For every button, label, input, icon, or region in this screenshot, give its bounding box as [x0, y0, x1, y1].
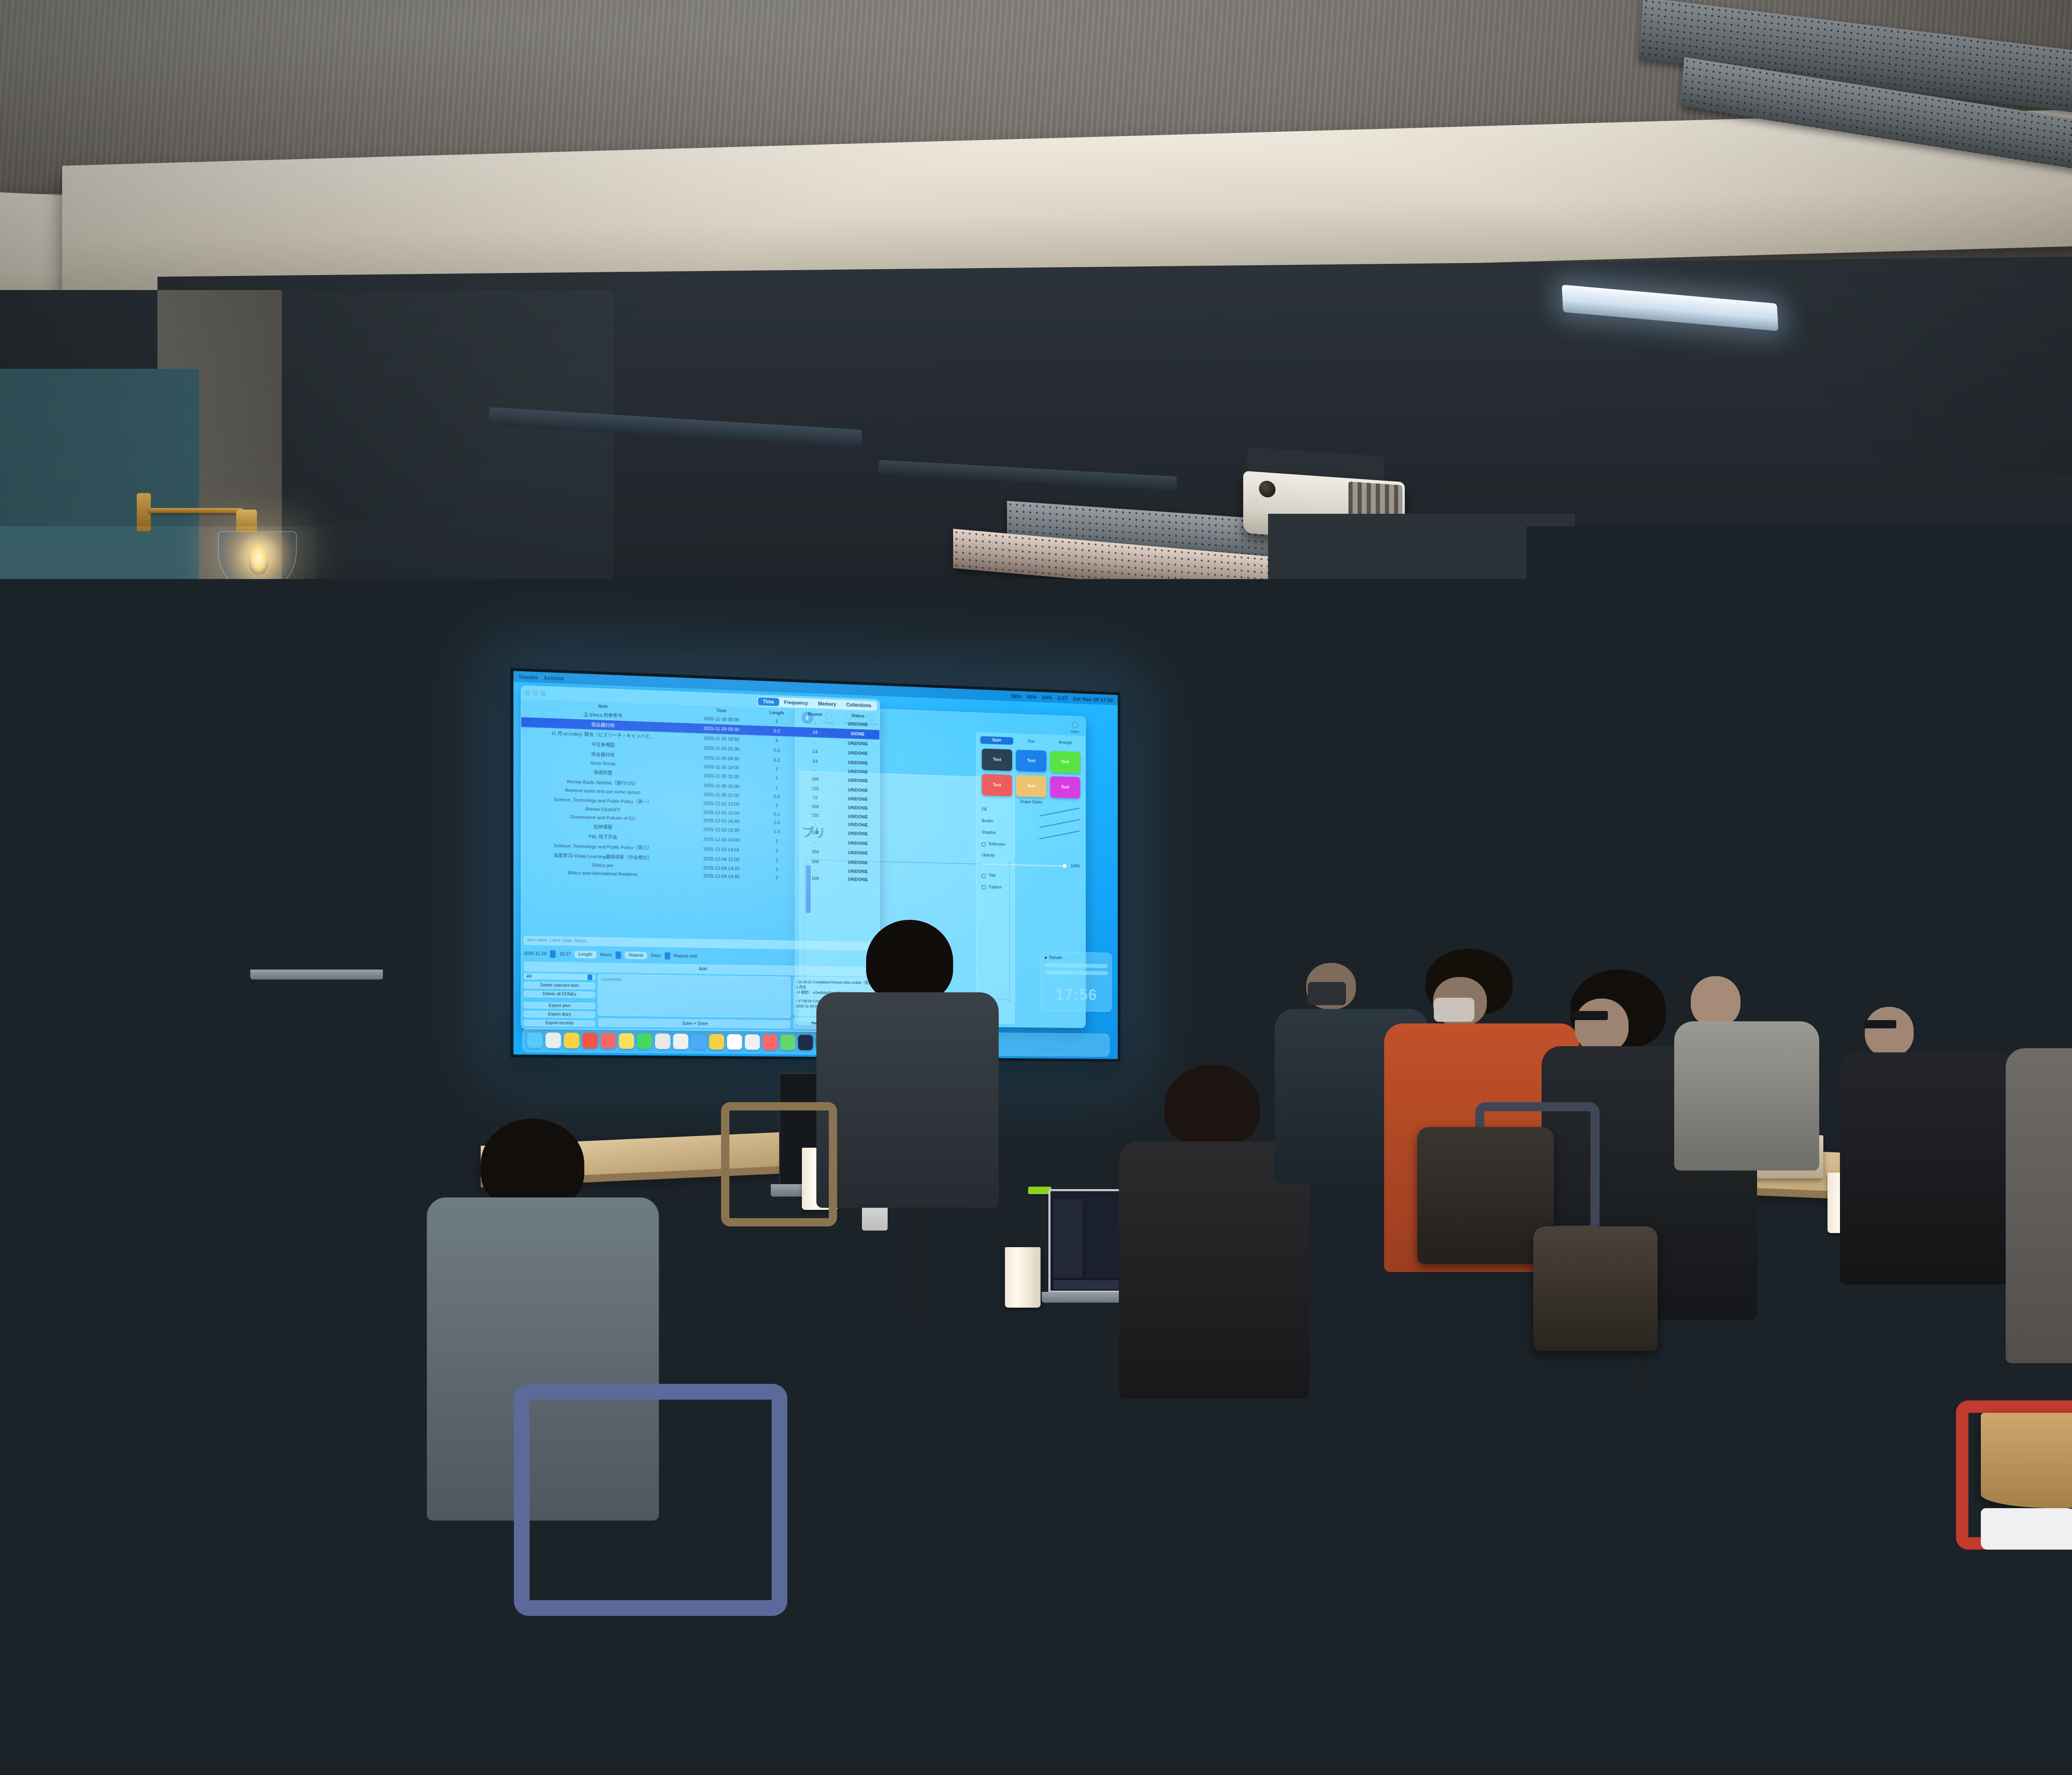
cell-repeat: -	[794, 868, 835, 873]
menubar-stat-1: 98%	[1011, 693, 1021, 699]
task-table[interactable]: Item Time Length Repeat Status 立 Ethics …	[521, 700, 879, 938]
meeting-room-photo: 無料でご利用いただけます FREE WI-FI SSID Bizreach-Ca…	[0, 0, 2072, 1775]
tomato-timer-widget[interactable]: Tomato 17:56	[1041, 952, 1112, 1012]
cell-repeat: -	[794, 720, 835, 726]
repeat-unit: Days	[651, 953, 661, 958]
face-mask	[1434, 998, 1474, 1022]
style-swatch[interactable]: Text	[1016, 750, 1046, 772]
menubar-actions[interactable]: Actions	[544, 675, 564, 682]
repeat-until-label: Repeat until	[674, 953, 697, 959]
cell-repeat: -	[794, 739, 835, 745]
notes-icon[interactable]	[619, 1033, 634, 1049]
notion-icon[interactable]	[673, 1034, 688, 1050]
cell-length: 1	[759, 775, 795, 781]
cell-status: UNDONE	[835, 787, 879, 793]
log-line: - 15:18:21 Completed Renew Ultra mobile（…	[796, 979, 874, 991]
tomato-widget-title: Tomato	[1045, 955, 1108, 961]
tab-collections[interactable]: Collections	[841, 701, 876, 710]
music-icon[interactable]	[762, 1035, 777, 1050]
reflection-label: Reflection	[989, 842, 1080, 849]
style-swatch[interactable]: Text	[982, 774, 1012, 796]
delete-all-dones-button[interactable]: Delete all DONEs	[524, 991, 595, 998]
cell-time: 2025-11-30 14:00	[683, 764, 759, 771]
head	[1691, 976, 1740, 1027]
col-status: Status	[835, 713, 879, 719]
reflection-checkbox[interactable]	[982, 842, 985, 846]
glasses-icon	[1863, 1020, 1896, 1028]
cell-time: 2025-12-01 15:00	[683, 809, 759, 816]
filter-select[interactable]: All	[524, 973, 595, 980]
cell-status: UNDONE	[835, 860, 879, 866]
cell-length: 0.5	[759, 794, 795, 800]
date-stepper[interactable]	[550, 950, 556, 958]
repeat-input[interactable]: Repeat	[625, 952, 647, 960]
tab-arrange[interactable]: Arrange	[1049, 739, 1082, 747]
shadow-label: Shadow	[982, 830, 995, 835]
cell-repeat: 168	[794, 875, 835, 881]
menubar-battery-time: 2:57	[1058, 695, 1068, 701]
tab-style[interactable]: Style	[980, 736, 1014, 745]
cell-repeat: 168	[794, 829, 835, 835]
cell-length: 1	[759, 766, 795, 772]
laptop-lid	[256, 895, 376, 970]
border-label: Border	[982, 819, 993, 823]
cell-length: 2	[759, 803, 795, 808]
sneaker	[1558, 1409, 1658, 1448]
sneaker	[1981, 1508, 2072, 1550]
cell-time: 2025-12-01 16:40	[683, 817, 759, 825]
cell-length: 0.2	[759, 757, 795, 763]
photos-icon[interactable]	[564, 1033, 579, 1048]
cell-length: 0.5	[759, 747, 795, 754]
cell-repeat: 720	[794, 786, 835, 792]
tab-text[interactable]: Text	[1015, 738, 1048, 746]
cell-time: 2025-11-18 08:00	[683, 716, 759, 723]
cell-length: 0.1	[759, 812, 795, 817]
caption-label: Caption	[989, 885, 1080, 891]
cell-length: 1	[759, 785, 795, 791]
comments-pane: Comments Save + Done	[598, 974, 791, 1029]
cell-status: UNDONE	[835, 721, 879, 728]
hair	[481, 1119, 584, 1210]
cell-status: UNDONE	[835, 822, 879, 828]
torso	[2006, 1048, 2072, 1363]
projection-screen: Tomato Actions 98% 90% 64% 2:57 Sat Nov …	[511, 668, 1120, 1062]
torso	[1840, 1052, 2018, 1284]
fill-label: Fill	[982, 808, 987, 812]
chrome-icon[interactable]	[655, 1033, 670, 1049]
date-field[interactable]: 2025-11-29	[524, 951, 547, 957]
actions-pane: All Delete selected item Delete all DONE…	[524, 973, 595, 1027]
cell-repeat: 72	[794, 795, 835, 801]
wood-wainscot-left	[0, 1007, 166, 1305]
tab-time[interactable]: Time	[758, 697, 779, 706]
style-swatch[interactable]: Text	[1016, 775, 1046, 798]
chevron-down-icon	[588, 974, 593, 980]
cell-time: 2025-12-03 14:55	[683, 846, 759, 853]
inspector-tabs: Style Text Arrange	[980, 736, 1082, 747]
export-plan-button[interactable]: Export plan	[524, 1002, 595, 1009]
tomato-timer-value: 17:56	[1041, 986, 1111, 1004]
cell-status: UNDONE	[835, 750, 879, 756]
cell-status: UNDONE	[835, 877, 879, 883]
cell-length: 0.2	[759, 728, 795, 734]
torso	[1674, 1021, 1819, 1170]
glasses-icon	[1572, 1011, 1608, 1020]
cell-status: UNDONE	[835, 814, 879, 820]
opacity-slider[interactable]	[982, 863, 1067, 867]
inspector-row-reflection[interactable]: Reflection	[980, 838, 1082, 852]
paper-cup	[1005, 1247, 1041, 1308]
hair	[866, 920, 953, 1003]
cell-time: 2025-11-29 18:50	[683, 735, 759, 742]
cell-status: UNDONE	[835, 840, 879, 846]
cell-status: UNDONE	[835, 760, 879, 766]
health-icon[interactable]	[600, 1033, 616, 1049]
head	[1865, 1007, 1914, 1057]
repeat-stepper[interactable]	[665, 952, 670, 960]
cell-length: 1	[759, 718, 795, 724]
cell-time: 2025-11-29 09:30	[683, 725, 759, 733]
fill-preview	[1039, 808, 1080, 816]
export-records-button[interactable]: Export records	[524, 1020, 595, 1027]
cell-repeat: 24	[794, 758, 835, 764]
mail-icon[interactable]	[691, 1034, 707, 1050]
cell-status: UNDONE	[835, 805, 879, 811]
cell-length: 2	[759, 848, 795, 854]
cell-time: 2025-12-04 14:20	[683, 865, 759, 871]
time-field[interactable]: 15:17	[559, 952, 571, 957]
smartphone	[742, 1307, 800, 1330]
cell-status: UNDONE	[835, 850, 879, 856]
projected-desktop: Tomato Actions 98% 90% 64% 2:57 Sat Nov …	[513, 671, 1118, 1059]
cell-time: 2025-11-30 16:00	[683, 782, 759, 789]
chair-frame-green	[1537, 1516, 1836, 1740]
length-stepper[interactable]	[615, 951, 621, 959]
comments-textarea[interactable]: Comments	[598, 974, 791, 1018]
hair-bun	[1164, 1065, 1260, 1148]
share-icon	[1072, 722, 1078, 728]
cell-length: 1.5	[759, 829, 795, 834]
chair-frame-wood	[721, 1102, 837, 1226]
menubar-stat-3: 64%	[1042, 694, 1052, 700]
photos2-icon[interactable]	[709, 1034, 724, 1050]
cell-length: 2	[759, 858, 795, 863]
reminders-icon[interactable]	[745, 1034, 760, 1050]
tomato-icon[interactable]	[582, 1033, 598, 1049]
chair-frame-red	[800, 1318, 1048, 1500]
window-tabs: Time Frequency Memory Collections	[757, 696, 877, 711]
cell-time: 2025-12-04 14:40	[683, 873, 759, 880]
cell-repeat: -	[794, 767, 835, 774]
opacity-value: 100%	[1070, 864, 1080, 868]
cell-status: DONE	[835, 731, 879, 737]
filter-value: All	[527, 974, 532, 979]
cell-time: 2025-11-30 09:30	[683, 754, 759, 762]
export-diary-button[interactable]: Export diary	[524, 1011, 595, 1018]
inspector-row-caption[interactable]: Caption	[980, 881, 1082, 895]
cell-time: 2025-11-30 15:30	[683, 773, 759, 780]
cell-status: UNDONE	[835, 769, 879, 775]
projector-lens-icon	[1259, 480, 1276, 498]
cell-status: UNDONE	[835, 777, 879, 784]
toolbar-share[interactable]: Share	[1070, 722, 1080, 734]
sconce-arm	[148, 508, 244, 513]
cell-time: 2025-12-01 13:00	[683, 800, 759, 808]
zoom-icon[interactable]	[541, 691, 545, 695]
col-time: Time	[683, 707, 759, 715]
chair-frame-blue	[514, 1384, 787, 1616]
save-done-button[interactable]: Save + Done	[598, 1018, 791, 1028]
cell-time: 2025-12-02 19:30	[683, 827, 759, 834]
keynote-icon[interactable]	[798, 1035, 813, 1050]
torso	[816, 992, 999, 1208]
title-label: Title	[989, 873, 1080, 880]
maps-icon[interactable]	[780, 1035, 795, 1050]
border-preview	[1039, 819, 1080, 828]
calendar-icon[interactable]	[727, 1034, 742, 1050]
cell-repeat: 24	[794, 729, 835, 735]
cell-repeat: 168	[794, 776, 835, 782]
cell-repeat: -	[794, 821, 835, 827]
tab-memory[interactable]: Memory	[813, 699, 841, 709]
tab-frequency[interactable]: Frequency	[779, 698, 813, 708]
toolbar-share-label: Share	[1070, 730, 1080, 734]
cell-length: 2	[759, 875, 795, 880]
close-icon[interactable]	[525, 690, 530, 695]
cell-repeat: 168	[794, 804, 835, 810]
cell-status: UNDONE	[835, 868, 879, 874]
sneaker	[1484, 1363, 1579, 1400]
menubar-app-name[interactable]: Tomato	[518, 673, 538, 680]
tomato-widget-label: Tomato	[1049, 955, 1063, 960]
style-swatch[interactable]: Text	[982, 749, 1012, 771]
cell-status: UNDONE	[835, 740, 879, 747]
cell-time: 2025-12-03 14:00	[683, 836, 759, 843]
face-mask	[1308, 982, 1346, 1005]
bullet-icon	[1045, 957, 1047, 959]
title-checkbox[interactable]	[982, 873, 985, 878]
length-input[interactable]: Length	[574, 951, 596, 959]
col-length: Length	[759, 710, 795, 716]
backpack-right	[1533, 1226, 1658, 1351]
col-repeat: Repeat	[794, 711, 835, 718]
sconce-socket	[236, 510, 257, 532]
length-unit: Hours	[600, 953, 612, 958]
cell-status: UNDONE	[835, 831, 879, 837]
menubar-clock: Sat Nov 29 17:56	[1073, 695, 1113, 703]
shape-style-swatches: Text Text Text Text Text Text	[982, 749, 1080, 799]
spotify-icon[interactable]	[637, 1033, 652, 1049]
cell-status: UNDONE	[835, 796, 879, 802]
minimize-icon[interactable]	[533, 691, 538, 695]
menubar-stat-2: 90%	[1027, 694, 1037, 700]
caption-checkbox[interactable]	[982, 885, 985, 889]
launchpad-icon[interactable]	[545, 1033, 561, 1048]
cell-repeat: 168	[794, 858, 835, 864]
chair-wood-right	[1981, 1413, 2072, 1508]
cell-time: 2025-11-30 21:00	[683, 791, 759, 798]
cell-length: 1.5	[759, 820, 795, 825]
head	[1575, 999, 1629, 1052]
backpack-left	[137, 1475, 344, 1653]
cell-length: 1	[759, 838, 795, 844]
laptop-base	[250, 970, 383, 979]
cell-time: 2025-12-04 12:00	[683, 856, 759, 863]
delete-selected-button[interactable]: Delete selected item	[524, 982, 595, 989]
cell-repeat: 720	[794, 813, 835, 819]
cell-repeat: 24	[794, 749, 835, 755]
style-swatch[interactable]: Text	[1050, 751, 1080, 773]
cell-repeat: 168	[794, 849, 835, 855]
tomato-task-window[interactable]: Time Frequency Memory Collections Item T…	[521, 685, 880, 1033]
edison-bulb-icon	[249, 544, 269, 574]
cell-length: 6	[759, 738, 795, 744]
cell-repeat: -	[794, 839, 835, 845]
chair-frame-green	[1090, 1521, 1380, 1736]
cell-time: 2025-11-29 21:30	[683, 745, 759, 752]
style-swatch[interactable]: Text	[1050, 776, 1080, 798]
finder-icon[interactable]	[527, 1032, 543, 1048]
cell-length: 1	[759, 867, 795, 873]
shadow-preview	[1039, 830, 1080, 839]
